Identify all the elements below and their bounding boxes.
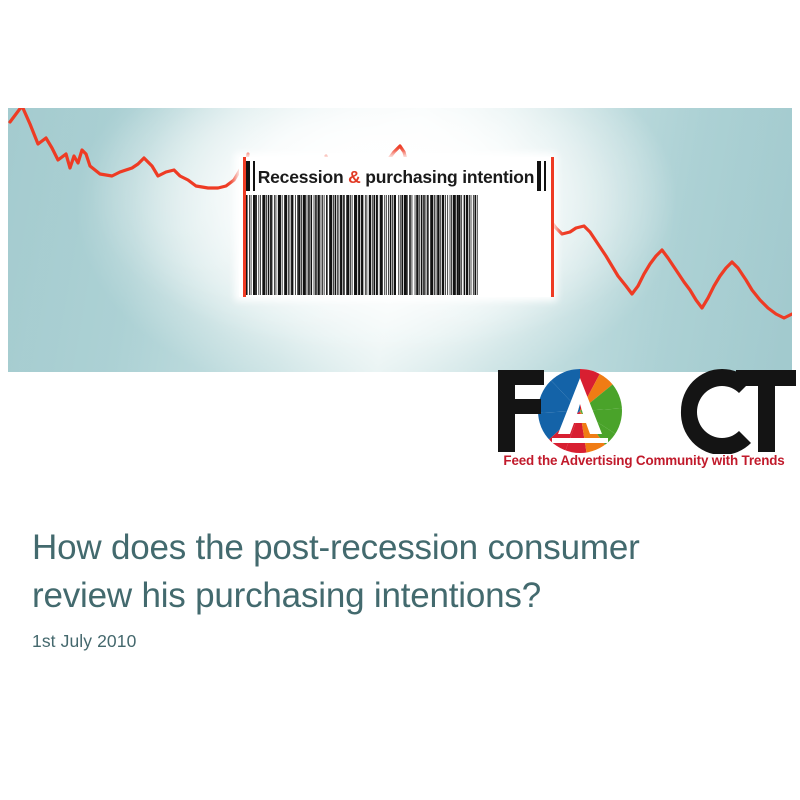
fact-emblem-a-icon <box>532 368 628 454</box>
trend-line-left <box>10 108 248 188</box>
barcode-gap <box>478 195 479 295</box>
banner-image: Recession & purchasing intention <box>8 108 792 372</box>
page-title: How does the post-recession consumer rev… <box>32 524 762 620</box>
page-title-line-2: review his purchasing intentions? <box>32 572 762 620</box>
barcode-bars <box>246 195 479 295</box>
fact-logo: Feed the Advertising Community with Tren… <box>492 368 796 480</box>
barcode-title-text: Recession & purchasing intention <box>258 167 535 188</box>
slide-date: 1st July 2010 <box>32 631 136 652</box>
fact-letter-f <box>498 370 544 452</box>
barcode-title-prefix: Recession <box>258 167 348 187</box>
barcode-graphic: Recession & purchasing intention <box>237 157 555 297</box>
fact-logo-mark <box>492 368 796 454</box>
page-title-line-1: How does the post-recession consumer <box>32 524 762 572</box>
barcode-title-suffix: purchasing intention <box>361 167 535 187</box>
barcode-title: Recession & purchasing intention <box>237 160 555 194</box>
barcode-title-ampersand: & <box>348 167 360 187</box>
fact-tagline: Feed the Advertising Community with Tren… <box>492 453 796 468</box>
